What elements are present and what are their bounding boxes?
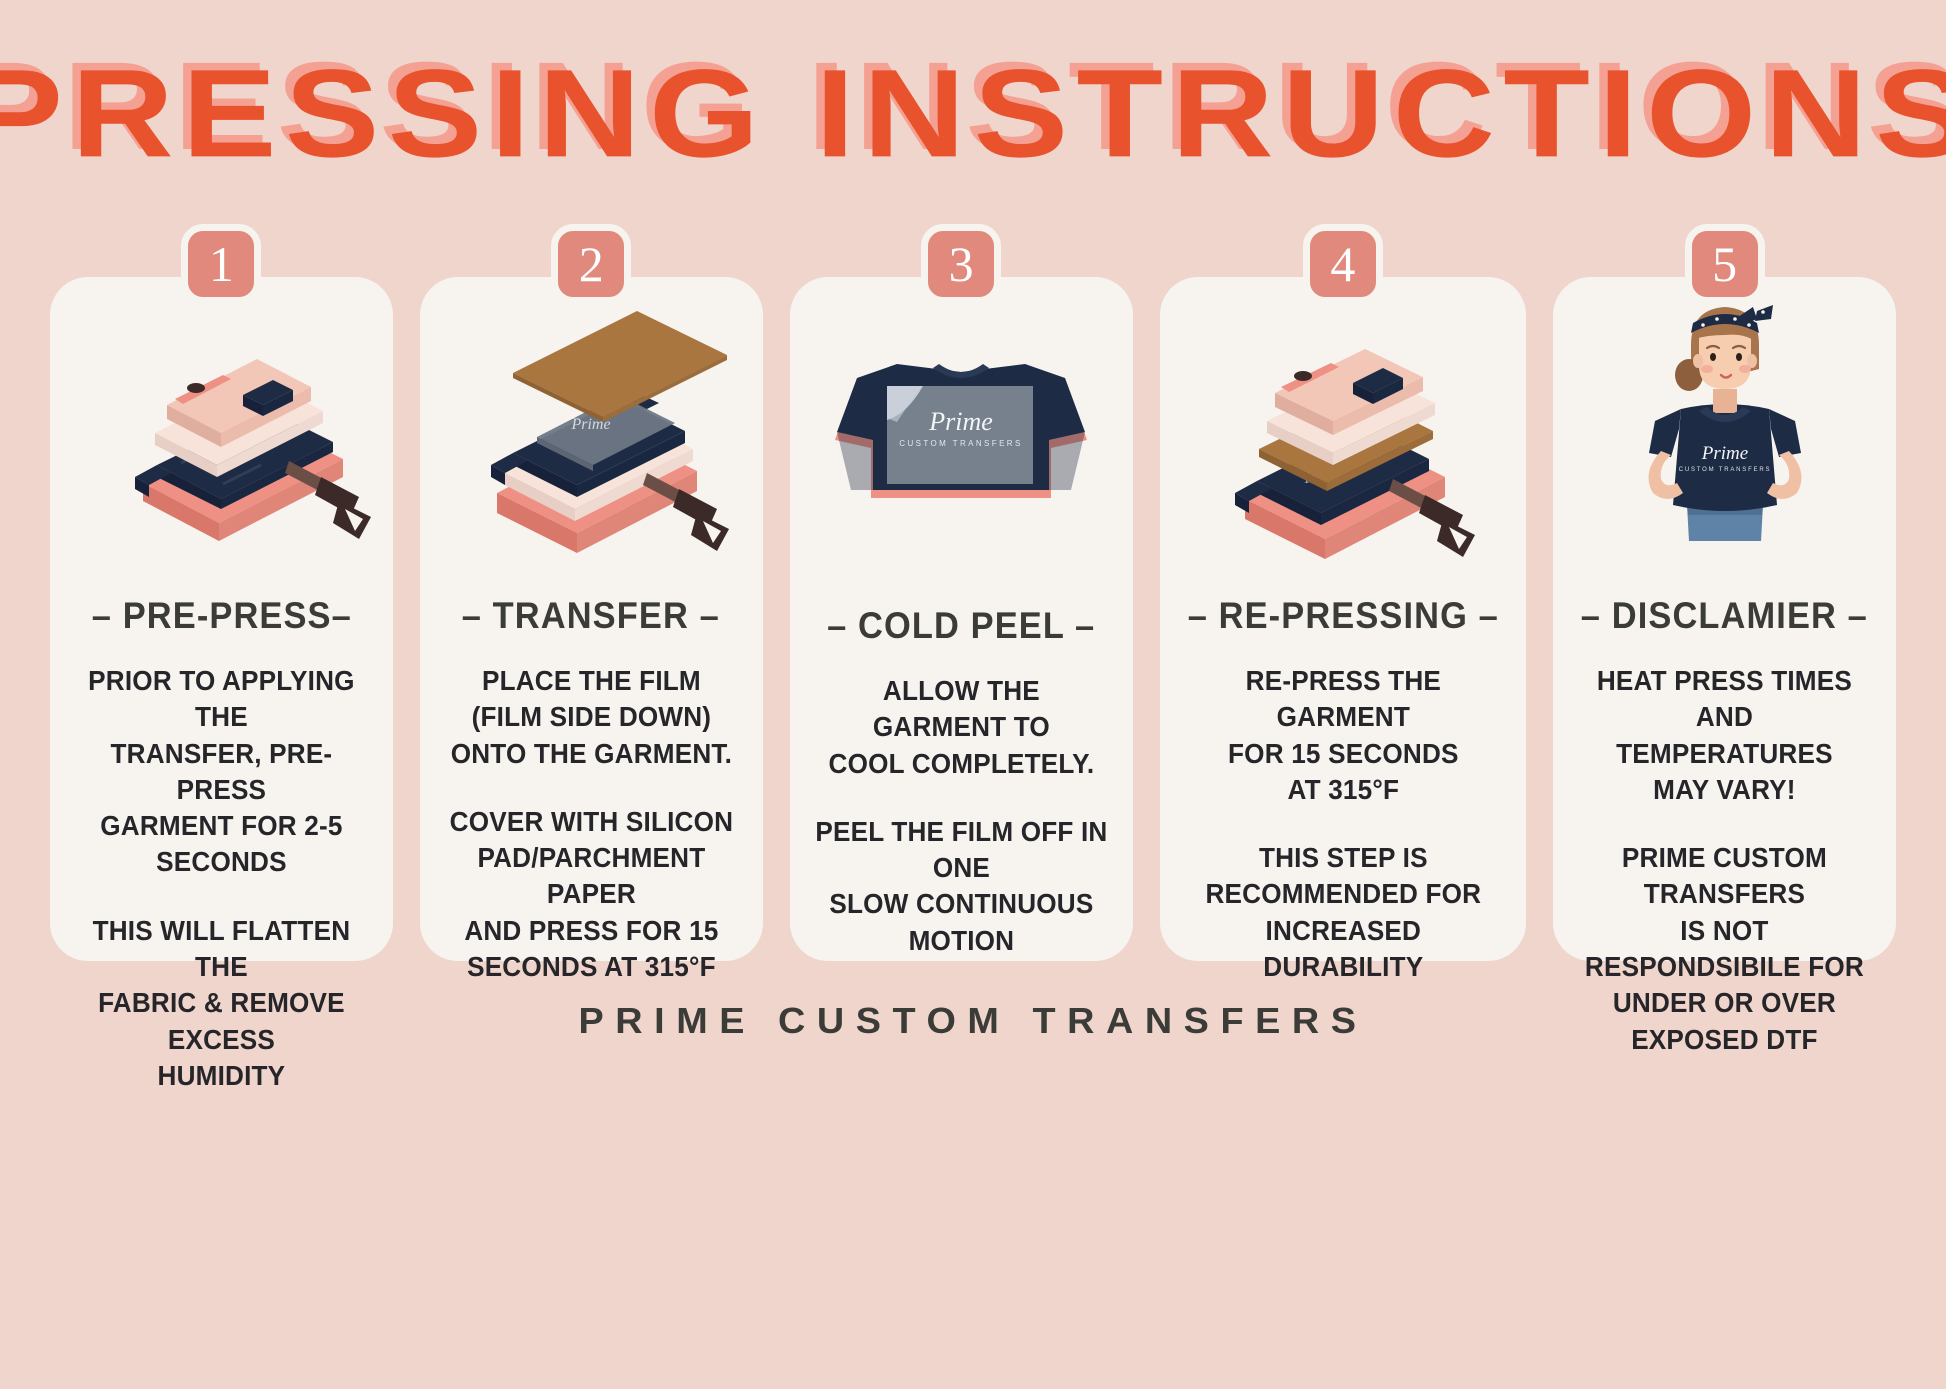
step-card-2: 2 — [420, 277, 763, 961]
step-paragraph: PLACE THE FILM(FILM SIDE DOWN)ONTO THE G… — [444, 663, 739, 772]
step-heading-4: – RE-PRESSING – — [1187, 595, 1498, 637]
step-paragraph: PRIOR TO APPLYING THETRANSFER, PRE-PRESS… — [74, 663, 369, 881]
illustration-heat-press-closed — [66, 287, 377, 567]
brand-mark: Prime — [928, 407, 993, 436]
step-paragraph: PEEL THE FILM OFF IN ONESLOW CONTINUOUSM… — [813, 814, 1108, 959]
illustration-woman-wearing-shirt: Prime CUSTOM TRANSFERS — [1569, 287, 1880, 567]
brand-subtitle: CUSTOM TRANSFERS — [1678, 467, 1771, 473]
brand-subtitle: CUSTOM TRANSFERS — [899, 439, 1022, 448]
step-paragraph: COVER WITH SILICONPAD/PARCHMENT PAPERAND… — [444, 804, 739, 985]
page-title-front-layer: PRESSING INSTRUCTIONS — [0, 44, 1946, 184]
step-paragraph: RE-PRESS THE GARMENTFOR 15 SECONDSAT 315… — [1184, 663, 1502, 808]
step-card-5: 5 — [1553, 277, 1896, 961]
step-card-4: 4 Prime — [1160, 277, 1527, 961]
step-heading-1: – PRE-PRESS– — [91, 595, 351, 637]
step-paragraph: ALLOW THE GARMENT TOCOOL COMPLETELY. — [813, 673, 1108, 782]
brand-mark: Prime — [1700, 443, 1747, 464]
step-body-5: HEAT PRESS TIMES ANDTEMPERATURESMAY VARY… — [1569, 663, 1880, 1058]
steps-container: 1 — [50, 277, 1896, 961]
step-heading-2: – TRANSFER – — [462, 595, 720, 637]
step-heading-5: – DISCLAMIER – — [1581, 595, 1868, 637]
step-body-3: ALLOW THE GARMENT TOCOOL COMPLETELY. PEE… — [806, 673, 1117, 959]
footer-brand: PRIME CUSTOM TRANSFERS — [0, 1000, 1946, 1042]
step-paragraph: HEAT PRESS TIMES ANDTEMPERATURESMAY VARY… — [1577, 663, 1872, 808]
step-paragraph: THIS STEP ISRECOMMENDED FORINCREASED DUR… — [1184, 840, 1502, 985]
illustration-parchment-over-film: Prime — [436, 287, 747, 567]
step-body-2: PLACE THE FILM(FILM SIDE DOWN)ONTO THE G… — [436, 663, 747, 985]
step-heading-3: – COLD PEEL – — [827, 605, 1095, 647]
step-card-1: 1 — [50, 277, 393, 961]
page-title: PRESSING INSTRUCTIONS PRESSING INSTRUCTI… — [0, 44, 1946, 184]
step-card-3: 3 Prime — [790, 277, 1133, 961]
illustration-heat-press-repress: Prime — [1176, 287, 1511, 567]
illustration-tshirt-peel-film: Prime CUSTOM TRANSFERS — [806, 287, 1117, 577]
step-body-4: RE-PRESS THE GARMENTFOR 15 SECONDSAT 315… — [1176, 663, 1511, 985]
